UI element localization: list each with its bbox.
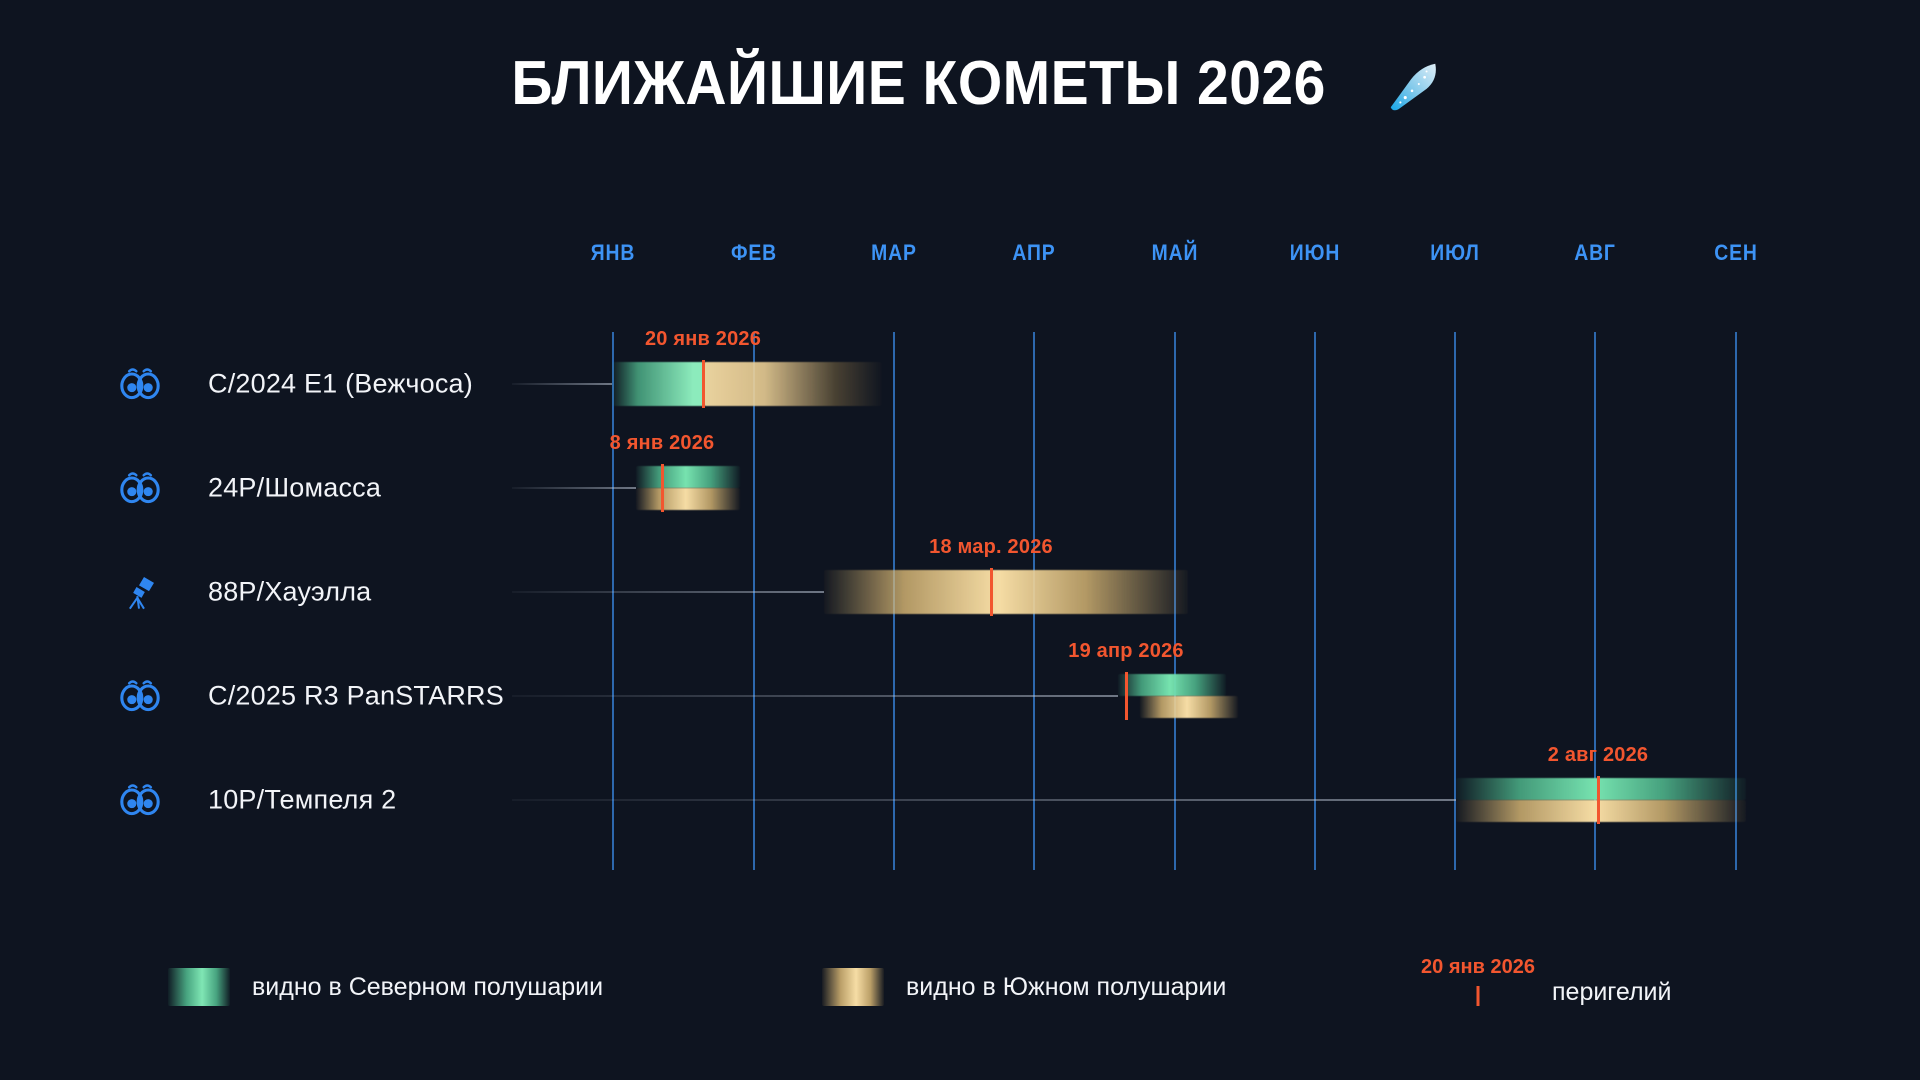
legend-item-south: видно в Южном полушарии bbox=[822, 968, 1226, 1006]
north-hemisphere-swatch bbox=[168, 968, 230, 1006]
month-label-янв: ЯНВ bbox=[591, 240, 636, 266]
visibility-bar-south[interactable] bbox=[704, 362, 882, 406]
visibility-bar-north[interactable] bbox=[1118, 674, 1226, 696]
perihelion-date-label: 2 авг 2026 bbox=[1548, 744, 1648, 767]
perihelion-line bbox=[1597, 776, 1600, 824]
comet-row[interactable]: 10P/Темпеля 22 авг 2026 bbox=[0, 748, 1920, 852]
perihelion-marker: 20 янв 2026 bbox=[1418, 956, 1538, 1020]
comet-name: C/2025 R3 PanSTARRS bbox=[208, 681, 504, 712]
binoculars-icon bbox=[118, 364, 162, 404]
perihelion-date-label: 19 апр 2026 bbox=[1068, 640, 1183, 663]
legend-label-perihelion: перигелий bbox=[1552, 978, 1671, 1007]
visibility-bar-south[interactable] bbox=[1456, 800, 1746, 822]
month-label-апр: АПР bbox=[1012, 240, 1055, 266]
legend-item-perihelion: 20 янв 2026 перигелий bbox=[1418, 956, 1671, 1020]
perihelion-tick-icon bbox=[1477, 986, 1480, 1006]
comet-name: 24P/Шомасса bbox=[208, 473, 381, 504]
legend-item-north: видно в Северном полушарии bbox=[168, 968, 603, 1006]
legend-label-south: видно в Южном полушарии bbox=[906, 973, 1226, 1002]
visibility-bar-north[interactable] bbox=[1456, 778, 1746, 800]
month-label-май: МАЙ bbox=[1152, 240, 1199, 266]
month-label-авг: АВГ bbox=[1574, 240, 1616, 266]
perihelion-date-label: 20 янв 2026 bbox=[645, 328, 761, 351]
visibility-bar-south[interactable] bbox=[824, 570, 1188, 614]
perihelion-line bbox=[990, 568, 993, 616]
binoculars-icon bbox=[118, 676, 162, 716]
visibility-bar-north[interactable] bbox=[612, 362, 704, 406]
binoculars-icon bbox=[118, 468, 162, 508]
binoculars-icon bbox=[118, 780, 162, 820]
visibility-bar-south[interactable] bbox=[1140, 696, 1238, 718]
month-label-сен: СЕН bbox=[1714, 240, 1758, 266]
south-hemisphere-swatch bbox=[822, 968, 884, 1006]
leader-line bbox=[512, 383, 612, 385]
visibility-bar-south[interactable] bbox=[636, 488, 740, 510]
legend-perihelion-date: 20 янв 2026 bbox=[1421, 956, 1535, 979]
perihelion-line bbox=[702, 360, 705, 408]
comet-row[interactable]: 24P/Шомасса8 янв 2026 bbox=[0, 436, 1920, 540]
perihelion-line bbox=[661, 464, 664, 512]
perihelion-line bbox=[1125, 672, 1128, 720]
month-label-июл: ИЮЛ bbox=[1430, 240, 1479, 266]
month-label-фев: ФЕВ bbox=[731, 240, 777, 266]
perihelion-date-label: 8 янв 2026 bbox=[610, 432, 715, 455]
comet-row[interactable]: 88P/Хауэлла18 мар. 2026 bbox=[0, 540, 1920, 644]
perihelion-date-label: 18 мар. 2026 bbox=[929, 536, 1053, 559]
leader-line bbox=[512, 799, 1456, 801]
leader-line bbox=[512, 487, 636, 489]
leader-line bbox=[512, 695, 1118, 697]
telescope-icon bbox=[118, 572, 162, 612]
month-label-мар: МАР bbox=[871, 240, 917, 266]
comet-name: 10P/Темпеля 2 bbox=[208, 785, 396, 816]
comet-name: 88P/Хауэлла bbox=[208, 577, 371, 608]
month-label-июн: ИЮН bbox=[1290, 240, 1341, 266]
comet-name: C/2024 E1 (Вежчоса) bbox=[208, 369, 473, 400]
comet-row[interactable]: C/2024 E1 (Вежчоса)20 янв 2026 bbox=[0, 332, 1920, 436]
comet-row[interactable]: C/2025 R3 PanSTARRS19 апр 2026 bbox=[0, 644, 1920, 748]
month-axis: ЯНВФЕВМАРАПРМАЙИЮНИЮЛАВГСЕН bbox=[0, 240, 1920, 272]
comet-timeline-chart: ЯНВФЕВМАРАПРМАЙИЮНИЮЛАВГСЕН C/2024 E1 (В… bbox=[0, 0, 1920, 1080]
legend-label-north: видно в Северном полушарии bbox=[252, 973, 603, 1002]
leader-line bbox=[512, 591, 824, 593]
legend: видно в Северном полушарии видно в Южном… bbox=[0, 952, 1920, 1042]
visibility-bar-north[interactable] bbox=[636, 466, 740, 488]
